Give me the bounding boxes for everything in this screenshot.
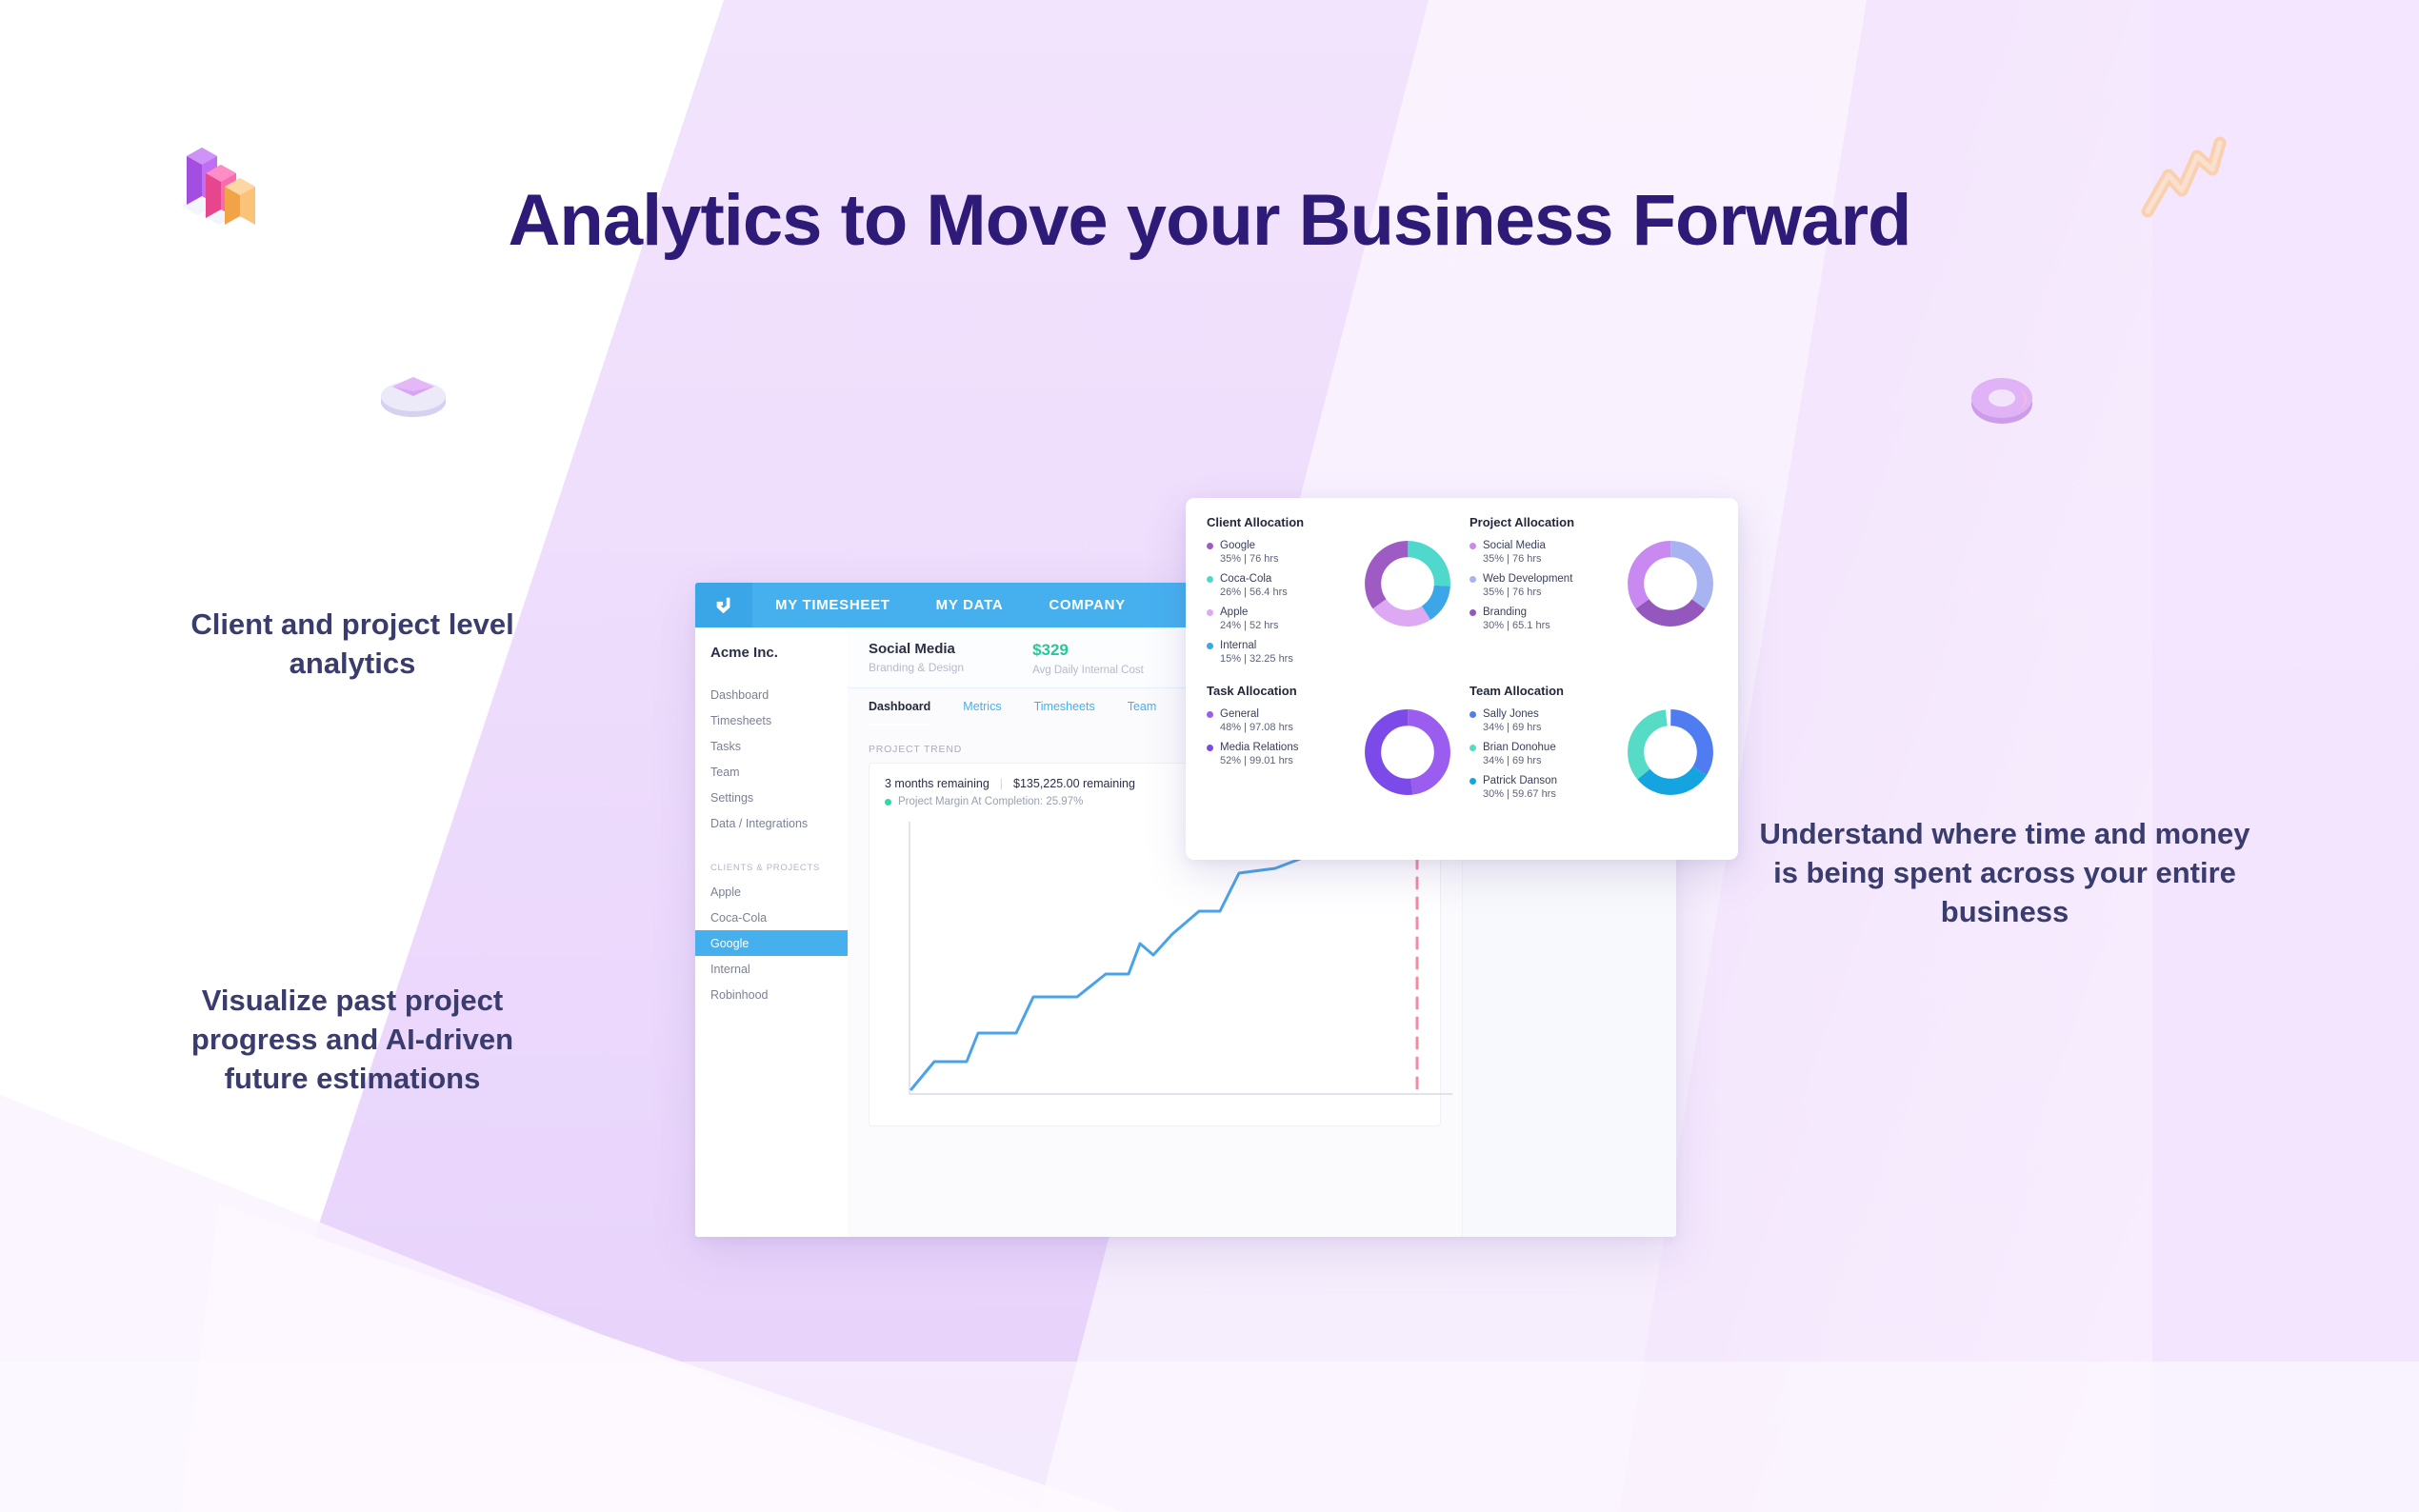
sidebar-item-timesheets[interactable]: Timesheets [695, 707, 848, 733]
tab-team[interactable]: Team [1128, 700, 1157, 726]
sidebar: Acme Inc. Dashboard Timesheets Tasks Tea… [695, 627, 848, 1237]
nav-my-data[interactable]: MY DATA [913, 597, 1027, 613]
sidebar-nav-list: Dashboard Timesheets Tasks Team Settings… [695, 682, 848, 836]
caption-visualize-progress: Visualize past project progress and AI-d… [152, 981, 552, 1099]
legend-color-icon [1469, 543, 1476, 549]
legend-value: 35% | 76 hrs [1483, 553, 1618, 565]
legend-item: Internal 15% | 32.25 hrs [1207, 640, 1355, 665]
app-nav: MY TIMESHEET MY DATA COMPANY [752, 597, 1149, 613]
trend-budget-remaining: $135,225.00 remaining [1013, 777, 1135, 790]
legend-label: Media Relations [1220, 742, 1298, 753]
legend-value: 34% | 69 hrs [1483, 722, 1618, 733]
page-title: Analytics to Move your Business Forward [0, 179, 2419, 262]
legend-label: Internal [1220, 640, 1256, 651]
sidebar-item-data-integrations[interactable]: Data / Integrations [695, 810, 848, 836]
allocation-panel: Client Allocation Google 35% | 76 hrs Co… [1186, 498, 1738, 860]
nav-company[interactable]: COMPANY [1026, 597, 1148, 613]
client-allocation-donut [1361, 538, 1454, 629]
sidebar-item-team[interactable]: Team [695, 759, 848, 785]
legend-value: 34% | 69 hrs [1483, 755, 1618, 766]
card-title: Team Allocation [1469, 684, 1717, 698]
stat-value: $329 [1032, 641, 1144, 660]
legend-color-icon [1207, 711, 1213, 718]
project-trend-line-chart [885, 816, 1425, 1124]
sidebar-project-robinhood[interactable]: Robinhood [695, 982, 848, 1007]
project-subtitle: Branding & Design [869, 661, 964, 674]
legend-value: 30% | 65.1 hrs [1483, 620, 1618, 631]
legend-item: Media Relations 52% | 99.01 hrs [1207, 742, 1355, 766]
tab-metrics[interactable]: Metrics [963, 700, 1001, 726]
legend-value: 26% | 56.4 hrs [1220, 587, 1355, 598]
trend-separator: | [1000, 777, 1003, 790]
legend-item: Web Development 35% | 76 hrs [1469, 573, 1618, 598]
sidebar-item-tasks[interactable]: Tasks [695, 733, 848, 759]
legend-color-icon [1207, 543, 1213, 549]
task-allocation-card: Task Allocation General 48% | 97.08 hrs … [1207, 684, 1454, 843]
legend-color-icon [1207, 576, 1213, 583]
team-allocation-donut [1624, 706, 1717, 798]
legend-color-icon [1469, 778, 1476, 785]
cylinder-puck-icon [373, 354, 453, 429]
legend-color-icon [1469, 711, 1476, 718]
legend-color-icon [1469, 609, 1476, 616]
legend-value: 35% | 76 hrs [1220, 553, 1355, 565]
legend: General 48% | 97.08 hrs Media Relations … [1207, 706, 1355, 775]
card-title: Project Allocation [1469, 515, 1717, 529]
sidebar-project-internal[interactable]: Internal [695, 956, 848, 982]
legend-dot-icon [885, 799, 891, 806]
legend-label: Google [1220, 540, 1255, 551]
card-title: Task Allocation [1207, 684, 1454, 698]
legend: Google 35% | 76 hrs Coca-Cola 26% | 56.4… [1207, 538, 1355, 673]
sidebar-item-settings[interactable]: Settings [695, 785, 848, 810]
project-title: Social Media [869, 641, 964, 657]
legend-label: Patrick Danson [1483, 775, 1557, 786]
project-title-block: Social Media Branding & Design [869, 641, 964, 674]
legend: Sally Jones 34% | 69 hrs Brian Donohue 3… [1469, 706, 1618, 808]
legend-color-icon [1207, 745, 1213, 751]
legend-item: Coca-Cola 26% | 56.4 hrs [1207, 573, 1355, 598]
legend-item: General 48% | 97.08 hrs [1207, 708, 1355, 733]
stat-label: Avg Daily Internal Cost [1032, 665, 1144, 676]
project-allocation-card: Project Allocation Social Media 35% | 76… [1469, 515, 1717, 674]
legend: Social Media 35% | 76 hrs Web Developmen… [1469, 538, 1618, 640]
team-allocation-card: Team Allocation Sally Jones 34% | 69 hrs… [1469, 684, 1717, 843]
legend-label: Apple [1220, 607, 1248, 618]
legend-value: 48% | 97.08 hrs [1220, 722, 1355, 733]
sidebar-project-google[interactable]: Google [695, 930, 848, 956]
legend-label: Branding [1483, 607, 1527, 618]
legend-value: 15% | 32.25 hrs [1220, 653, 1355, 665]
legend-value: 30% | 59.67 hrs [1483, 788, 1618, 800]
legend-value: 35% | 76 hrs [1483, 587, 1618, 598]
trend-months-remaining: 3 months remaining [885, 777, 990, 790]
legend-label: Web Development [1483, 573, 1572, 585]
legend-item: Brian Donohue 34% | 69 hrs [1469, 742, 1618, 766]
torus-ring-icon [1964, 364, 2040, 437]
tab-dashboard[interactable]: Dashboard [869, 700, 930, 726]
sidebar-project-list: Apple Coca-Cola Google Internal Robinhoo… [695, 879, 848, 1007]
caption-client-analytics: Client and project level analytics [152, 605, 552, 683]
legend-label: Coca-Cola [1220, 573, 1271, 585]
legend-item: Branding 30% | 65.1 hrs [1469, 607, 1618, 631]
legend-item: Patrick Danson 30% | 59.67 hrs [1469, 775, 1618, 800]
client-allocation-card: Client Allocation Google 35% | 76 hrs Co… [1207, 515, 1454, 674]
legend-color-icon [1469, 576, 1476, 583]
legend-value: 52% | 99.01 hrs [1220, 755, 1355, 766]
legend-label: Sally Jones [1483, 708, 1539, 720]
nav-my-timesheet[interactable]: MY TIMESHEET [752, 597, 913, 613]
sidebar-item-dashboard[interactable]: Dashboard [695, 682, 848, 707]
stat-avg-daily-internal-cost: $329 Avg Daily Internal Cost [1032, 641, 1144, 676]
org-name: Acme Inc. [695, 645, 848, 661]
legend-label: Social Media [1483, 540, 1546, 551]
legend-item: Social Media 35% | 76 hrs [1469, 540, 1618, 565]
sidebar-project-apple[interactable]: Apple [695, 879, 848, 905]
legend-color-icon [1469, 745, 1476, 751]
legend-item: Apple 24% | 52 hrs [1207, 607, 1355, 631]
card-title: Client Allocation [1207, 515, 1454, 529]
gridbase-logo-icon[interactable] [695, 583, 752, 627]
legend-item: Sally Jones 34% | 69 hrs [1469, 708, 1618, 733]
task-allocation-donut [1361, 706, 1454, 798]
tab-timesheets[interactable]: Timesheets [1034, 700, 1095, 726]
sidebar-section-clients-projects: CLIENTS & PROJECTS [695, 857, 848, 879]
legend-value: 24% | 52 hrs [1220, 620, 1355, 631]
project-allocation-donut [1624, 538, 1717, 629]
legend-label: General [1220, 708, 1259, 720]
legend-color-icon [1207, 609, 1213, 616]
sidebar-project-coca-cola[interactable]: Coca-Cola [695, 905, 848, 930]
legend-color-icon [1207, 643, 1213, 649]
legend-item: Google 35% | 76 hrs [1207, 540, 1355, 565]
trend-margin-label: Project Margin At Completion: 25.97% [898, 796, 1083, 807]
legend-label: Brian Donohue [1483, 742, 1556, 753]
caption-understand-spend: Understand where time and money is being… [1757, 814, 2252, 932]
